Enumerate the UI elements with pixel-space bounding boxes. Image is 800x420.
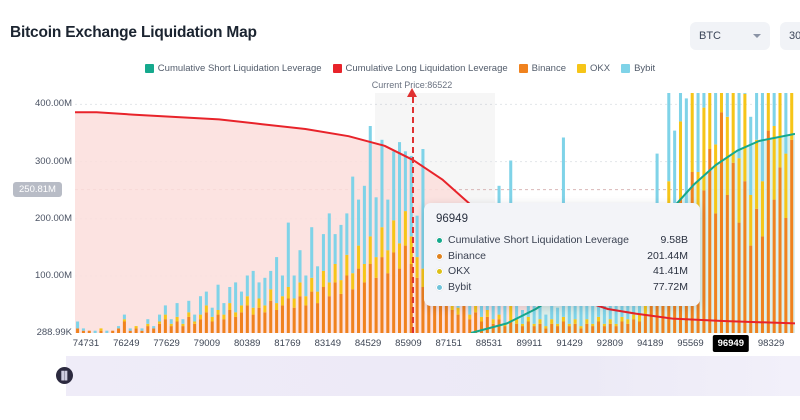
bar-segment-okx [574, 319, 577, 324]
bar-segment-binance [615, 326, 618, 333]
bar-segment-bybit [193, 315, 196, 322]
bar-segment-binance [181, 326, 184, 333]
bar-segment-binance [88, 331, 91, 333]
bar-segment-okx [228, 303, 231, 310]
bar-segment-okx [170, 324, 173, 326]
bar-segment-okx [404, 211, 407, 246]
bar-segment-bybit [76, 322, 79, 329]
x-axis-tick-label: 87151 [435, 338, 461, 349]
bar-segment-bybit [310, 227, 313, 278]
bar-segment-binance [433, 305, 436, 333]
bar-segment-okx [252, 308, 255, 315]
bar-segment-bybit [556, 308, 559, 324]
bar-segment-binance [170, 326, 173, 333]
bar-segment-bybit [375, 197, 378, 257]
legend-item-bybit[interactable]: Bybit [621, 63, 655, 74]
bar-segment-binance [579, 328, 582, 333]
bar-segment-okx [293, 299, 296, 308]
bar-segment-okx [240, 305, 243, 312]
bar-segment-okx [146, 324, 149, 326]
bar-segment-binance [304, 305, 307, 333]
bar-segment-okx [375, 257, 378, 278]
bar-segment-bybit [252, 271, 255, 308]
legend-label: Cumulative Short Liquidation Leverage [158, 63, 322, 74]
bar-segment-binance [111, 331, 114, 333]
bar-segment-bybit [568, 303, 571, 324]
x-axis-tick-label: 95569 [677, 338, 703, 349]
bar-segment-bybit [784, 93, 787, 154]
bar-segment-binance [568, 326, 571, 333]
bar-segment-bybit [140, 328, 143, 330]
tooltip-series-name: Cumulative Short Liquidation Leverage [448, 233, 629, 249]
bar-segment-binance [773, 200, 776, 333]
bar-segment-bybit [298, 250, 301, 282]
bar-segment-binance [503, 326, 506, 333]
bar-segment-bybit [246, 276, 249, 297]
bar-segment-binance [509, 322, 512, 334]
bar-segment-bybit [199, 296, 202, 314]
legend-item-okx[interactable]: OKX [577, 63, 610, 74]
bar-segment-binance [767, 131, 770, 333]
bar-segment-okx [521, 324, 524, 326]
range-scrollbar-handle[interactable]: ▐▌ [56, 367, 73, 384]
bar-segment-okx [480, 317, 483, 322]
bar-segment-okx [158, 322, 161, 324]
x-axis: 7473176249776297900980389817698314984529… [0, 334, 800, 356]
bar-segment-okx [714, 144, 717, 213]
bar-segment-okx [176, 317, 179, 322]
current-price-marker-line [412, 97, 414, 333]
bar-segment-okx [99, 328, 102, 330]
tooltip-series-dot-icon [436, 268, 443, 275]
bar-segment-binance [597, 322, 600, 334]
bar-segment-binance [702, 190, 705, 333]
bar-segment-okx [246, 296, 249, 305]
bar-segment-binance [334, 282, 337, 333]
bar-segment-bybit [697, 93, 700, 172]
bar-segment-okx [679, 121, 682, 199]
bar-segment-bybit [158, 315, 161, 322]
bar-segment-binance [240, 312, 243, 333]
bar-segment-binance [451, 310, 454, 333]
bar-segment-binance [275, 310, 278, 333]
bar-segment-okx [784, 154, 787, 218]
coin-selector-value: BTC [699, 30, 721, 42]
bar-segment-binance [140, 331, 143, 333]
bar-segment-binance [468, 319, 471, 333]
bar-segment-bybit [726, 93, 729, 117]
x-axis-tick-label: 88531 [476, 338, 502, 349]
range-scrollbar-track[interactable] [66, 356, 800, 396]
bar-segment-okx [562, 317, 565, 322]
x-axis-highlighted-tick-badge: 96949 [713, 335, 749, 352]
bar-segment-bybit [187, 301, 190, 313]
bar-segment-okx [474, 305, 477, 312]
tooltip-series-name: Bybit [448, 280, 471, 296]
legend-label: Bybit [634, 63, 655, 74]
bar-segment-bybit [702, 93, 705, 108]
bar-segment-binance [486, 317, 489, 333]
bar-segment-binance [222, 319, 225, 333]
bar-segment-binance [474, 312, 477, 333]
bar-segment-binance [533, 326, 536, 333]
bar-segment-binance [562, 322, 565, 334]
bar-segment-bybit [667, 93, 670, 181]
bar-segment-okx [486, 310, 489, 317]
bar-segment-binance [644, 315, 647, 333]
bar-segment-bybit [170, 319, 173, 324]
bar-segment-okx [743, 94, 746, 181]
widget-header: Bitcoin Exchange Liquidation Map BTC 30 [0, 0, 800, 56]
bar-segment-bybit [146, 319, 149, 324]
bar-segment-okx [603, 324, 606, 326]
x-axis-tick-label: 98329 [758, 338, 784, 349]
liquidation-map-widget: Bitcoin Exchange Liquidation Map BTC 30 … [0, 0, 800, 420]
bar-segment-binance [550, 324, 553, 333]
bar-segment-binance [82, 331, 85, 333]
legend-swatch-icon [577, 64, 586, 73]
bar-segment-binance [293, 308, 296, 333]
bar-segment-binance [714, 213, 717, 333]
bar-segment-okx [339, 280, 342, 294]
bar-segment-bybit [416, 216, 419, 257]
bar-segment-okx [550, 319, 553, 324]
bar-segment-okx [749, 195, 752, 246]
bar-segment-okx [790, 93, 793, 140]
x-axis-tick-label: 81769 [274, 338, 300, 349]
y-axis-tick-label: 300.00M [0, 156, 72, 167]
bar-segment-bybit [240, 292, 243, 306]
bar-segment-okx [556, 324, 559, 326]
bar-segment-binance [263, 312, 266, 333]
bar-segment-binance [755, 209, 758, 333]
x-axis-tick-label: 74731 [73, 338, 99, 349]
bar-segment-okx [164, 315, 167, 320]
bar-segment-bybit [328, 213, 331, 282]
bar-segment-binance [778, 167, 781, 333]
bar-segment-binance [398, 269, 401, 333]
bar-segment-binance [269, 301, 272, 333]
bar-segment-okx [644, 305, 647, 314]
bar-segment-bybit [544, 315, 547, 327]
tooltip-row: Cumulative Short Liquidation Leverage9.5… [436, 233, 688, 249]
bar-segment-binance [708, 149, 711, 333]
bar-segment-okx [193, 322, 196, 324]
bar-segment-binance [310, 292, 313, 333]
bar-segment-binance [298, 296, 301, 333]
bar-segment-binance [538, 324, 541, 333]
bar-segment-binance [585, 324, 588, 333]
drag-handle-icon: ▐▌ [58, 372, 70, 380]
bar-segment-okx [222, 315, 225, 320]
bar-segment-binance [761, 236, 764, 333]
bar-segment-okx [738, 158, 741, 222]
bar-segment-binance [416, 278, 419, 333]
bar-segment-bybit [275, 257, 278, 303]
bar-segment-okx [345, 255, 348, 276]
bar-segment-okx [187, 312, 190, 317]
bar-segment-okx [135, 326, 138, 328]
bar-segment-bybit [94, 331, 97, 333]
bar-segment-bybit [287, 223, 290, 287]
bar-segment-binance [720, 112, 723, 333]
bar-segment-binance [609, 324, 612, 333]
bar-segment-bybit [152, 326, 155, 328]
bar-segment-okx [334, 264, 337, 282]
bar-segment-okx [632, 315, 635, 320]
bar-segment-okx [544, 326, 547, 328]
bar-segment-bybit [533, 305, 536, 323]
bar-segment-okx [211, 317, 214, 322]
bar-segment-bybit [181, 319, 184, 324]
bar-segment-okx [281, 296, 284, 305]
bar-segment-binance [258, 308, 261, 333]
x-axis-tick-label: 84529 [355, 338, 381, 349]
bar-segment-binance [732, 163, 735, 333]
bar-segment-bybit [293, 276, 296, 299]
bar-segment-binance [199, 319, 202, 333]
bar-segment-okx [638, 315, 641, 322]
bar-segment-okx [328, 282, 331, 296]
bar-segment-binance [457, 315, 460, 333]
bar-segment-bybit [761, 93, 764, 181]
bar-segment-binance [743, 181, 746, 333]
tooltip-rows: Cumulative Short Liquidation Leverage9.5… [436, 233, 688, 295]
tooltip-row: Binance201.44M [436, 249, 688, 265]
bar-segment-binance [146, 326, 149, 333]
bar-segment-binance [790, 140, 793, 333]
legend-label: Cumulative Long Liquidation Leverage [346, 63, 508, 74]
bar-segment-binance [749, 246, 752, 333]
bar-segment-binance [784, 218, 787, 333]
tooltip-series-value: 9.58B [661, 233, 688, 249]
bar-segment-bybit [492, 305, 495, 319]
bar-segment-bybit [351, 177, 354, 274]
tooltip-series-name: Binance [448, 249, 486, 265]
bar-segment-bybit [743, 93, 746, 94]
bar-segment-okx [304, 296, 307, 305]
legend-item-binance[interactable]: Binance [519, 63, 566, 74]
bar-segment-okx [205, 305, 208, 312]
bar-segment-bybit [386, 200, 389, 251]
x-axis-tick-label: 85909 [395, 338, 421, 349]
bar-segment-bybit [714, 93, 717, 144]
x-axis-tick-label: 92809 [597, 338, 623, 349]
bar-segment-binance [135, 328, 138, 333]
tooltip-title: 96949 [436, 213, 688, 225]
bar-segment-okx [615, 324, 618, 326]
page-title: Bitcoin Exchange Liquidation Map [10, 24, 257, 42]
legend-item-cumulative-long-liquidation-leverage[interactable]: Cumulative Long Liquidation Leverage [333, 63, 508, 74]
tooltip-series-value: 201.44M [647, 249, 688, 265]
legend-swatch-icon [333, 64, 342, 73]
bar-segment-bybit [316, 266, 319, 291]
current-price-arrow-icon [407, 88, 417, 97]
bar-segment-bybit [322, 234, 325, 271]
bar-segment-okx [585, 319, 588, 324]
bar-segment-okx [468, 315, 471, 320]
bar-segment-binance [726, 195, 729, 333]
bar-segment-okx [316, 292, 319, 304]
legend-swatch-icon [519, 64, 528, 73]
bar-segment-okx [457, 308, 460, 315]
bar-segment-okx [363, 264, 366, 282]
bar-segment-bybit [164, 305, 167, 314]
bar-segment-binance [211, 322, 214, 334]
bar-segment-okx [691, 93, 694, 172]
tooltip-series-dot-icon [436, 253, 443, 260]
bar-segment-okx [269, 289, 272, 301]
bar-segment-bybit [345, 213, 348, 254]
bar-segment-okx [322, 271, 325, 287]
bar-segment-okx [380, 227, 383, 257]
bar-segment-okx [275, 303, 278, 310]
bar-segment-binance [357, 269, 360, 333]
bar-segment-bybit [679, 93, 682, 121]
bar-segment-okx [767, 93, 770, 131]
bar-segment-binance [462, 305, 465, 333]
bar-segment-bybit [357, 200, 360, 246]
bar-segment-bybit [82, 328, 85, 330]
bar-segment-bybit [263, 278, 266, 306]
period-selector[interactable]: 30 [780, 22, 800, 50]
bar-segment-binance [738, 223, 741, 333]
bar-segment-binance [521, 326, 524, 333]
bar-segment-bybit [117, 326, 120, 328]
legend-swatch-icon [145, 64, 154, 73]
bar-segment-binance [117, 328, 120, 333]
period-selector-value: 30 [789, 30, 800, 42]
bar-segment-bybit [339, 225, 342, 280]
bar-segment-bybit [281, 276, 284, 297]
bar-segment-binance [152, 328, 155, 333]
bar-segment-binance [205, 312, 208, 333]
bar-segment-bybit [380, 140, 383, 227]
bar-segment-okx [579, 326, 582, 328]
bar-segment-binance [164, 319, 167, 333]
bar-segment-bybit [574, 305, 577, 319]
x-axis-tick-label: 80389 [234, 338, 260, 349]
bar-segment-bybit [404, 151, 407, 211]
y-axis-tick-label: 200.00M [0, 213, 72, 224]
bar-segment-bybit [217, 285, 220, 310]
bar-segment-okx [217, 310, 220, 315]
bar-segment-binance [544, 328, 547, 333]
bar-segment-binance [369, 264, 372, 333]
legend-swatch-icon [621, 64, 630, 73]
bar-segment-binance [246, 305, 249, 333]
bar-segment-binance [392, 253, 395, 334]
bar-segment-bybit [222, 303, 225, 315]
bar-segment-binance [328, 296, 331, 333]
x-axis-tick-label: 89911 [516, 338, 542, 349]
tooltip-series-value: 77.72M [653, 280, 688, 296]
chart-legend: Cumulative Short Liquidation LeverageCum… [0, 63, 800, 74]
bar-segment-bybit [392, 151, 395, 220]
legend-item-cumulative-short-liquidation-leverage[interactable]: Cumulative Short Liquidation Leverage [145, 63, 322, 74]
x-axis-tick-label: 91429 [556, 338, 582, 349]
bar-segment-binance [339, 294, 342, 333]
bar-segment-binance [76, 328, 79, 333]
bar-segment-bybit [269, 271, 272, 289]
bar-segment-okx [298, 282, 301, 296]
bar-segment-bybit [749, 117, 752, 195]
bar-segment-bybit [105, 331, 108, 333]
chevron-down-icon [753, 34, 761, 38]
bar-segment-bybit [304, 276, 307, 297]
tooltip-series-dot-icon [436, 237, 443, 244]
bar-segment-okx [708, 93, 711, 149]
bar-segment-okx [351, 273, 354, 289]
bar-segment-okx [527, 317, 530, 322]
bar-segment-bybit [129, 328, 132, 330]
legend-label: OKX [590, 63, 610, 74]
x-axis-tick-label: 83149 [315, 338, 341, 349]
bar-segment-binance [99, 331, 102, 333]
bar-segment-bybit [685, 98, 688, 204]
bar-segment-binance [363, 282, 366, 333]
bar-segment-bybit [258, 282, 261, 298]
bar-segment-okx [778, 93, 781, 167]
bar-segment-okx [181, 324, 184, 326]
chart-tooltip: 96949 Cumulative Short Liquidation Lever… [424, 203, 700, 306]
bar-segment-binance [527, 322, 530, 334]
bar-segment-binance [620, 322, 623, 334]
tooltip-series-value: 41.41M [653, 264, 688, 280]
bar-segment-binance [217, 315, 220, 333]
tooltip-series-dot-icon [436, 284, 443, 291]
bar-segment-binance [228, 310, 231, 333]
tooltip-row: Bybit77.72M [436, 280, 688, 296]
bar-segment-okx [310, 278, 313, 292]
bar-segment-okx [597, 317, 600, 322]
bar-segment-bybit [234, 282, 237, 312]
bar-segment-okx [258, 299, 261, 308]
bar-segment-okx [609, 319, 612, 324]
bar-segment-binance [650, 305, 653, 333]
bar-segment-bybit [205, 292, 208, 306]
bar-segment-binance [386, 273, 389, 333]
bar-segment-binance [193, 324, 196, 333]
bar-segment-bybit [123, 315, 126, 320]
y-axis-highlighted-tick-badge: 250.81M [13, 182, 62, 197]
bar-segment-okx [702, 108, 705, 191]
bar-segment-binance [632, 319, 635, 333]
bar-segment-okx [398, 243, 401, 268]
bar-segment-binance [316, 303, 319, 333]
bar-segment-bybit [228, 287, 231, 303]
bar-segment-binance [375, 278, 378, 333]
bar-segment-okx [720, 93, 723, 112]
x-axis-tick-label: 76249 [113, 338, 139, 349]
bar-segment-bybit [398, 142, 401, 243]
bar-segment-okx [533, 324, 536, 326]
bar-segment-binance [404, 246, 407, 333]
bar-segment-okx [626, 319, 629, 324]
bar-segment-okx [755, 140, 758, 209]
bar-segment-bybit [176, 303, 179, 317]
bar-segment-binance [626, 324, 629, 333]
coin-selector[interactable]: BTC [690, 22, 770, 50]
bar-segment-okx [392, 220, 395, 252]
x-axis-tick-label: 94189 [637, 338, 663, 349]
bar-segment-bybit [755, 93, 758, 140]
bar-segment-binance [187, 317, 190, 333]
bar-segment-okx [568, 324, 571, 326]
bar-segment-okx [234, 312, 237, 317]
x-axis-tick-label: 79009 [194, 338, 220, 349]
x-axis-tick-label: 77629 [153, 338, 179, 349]
